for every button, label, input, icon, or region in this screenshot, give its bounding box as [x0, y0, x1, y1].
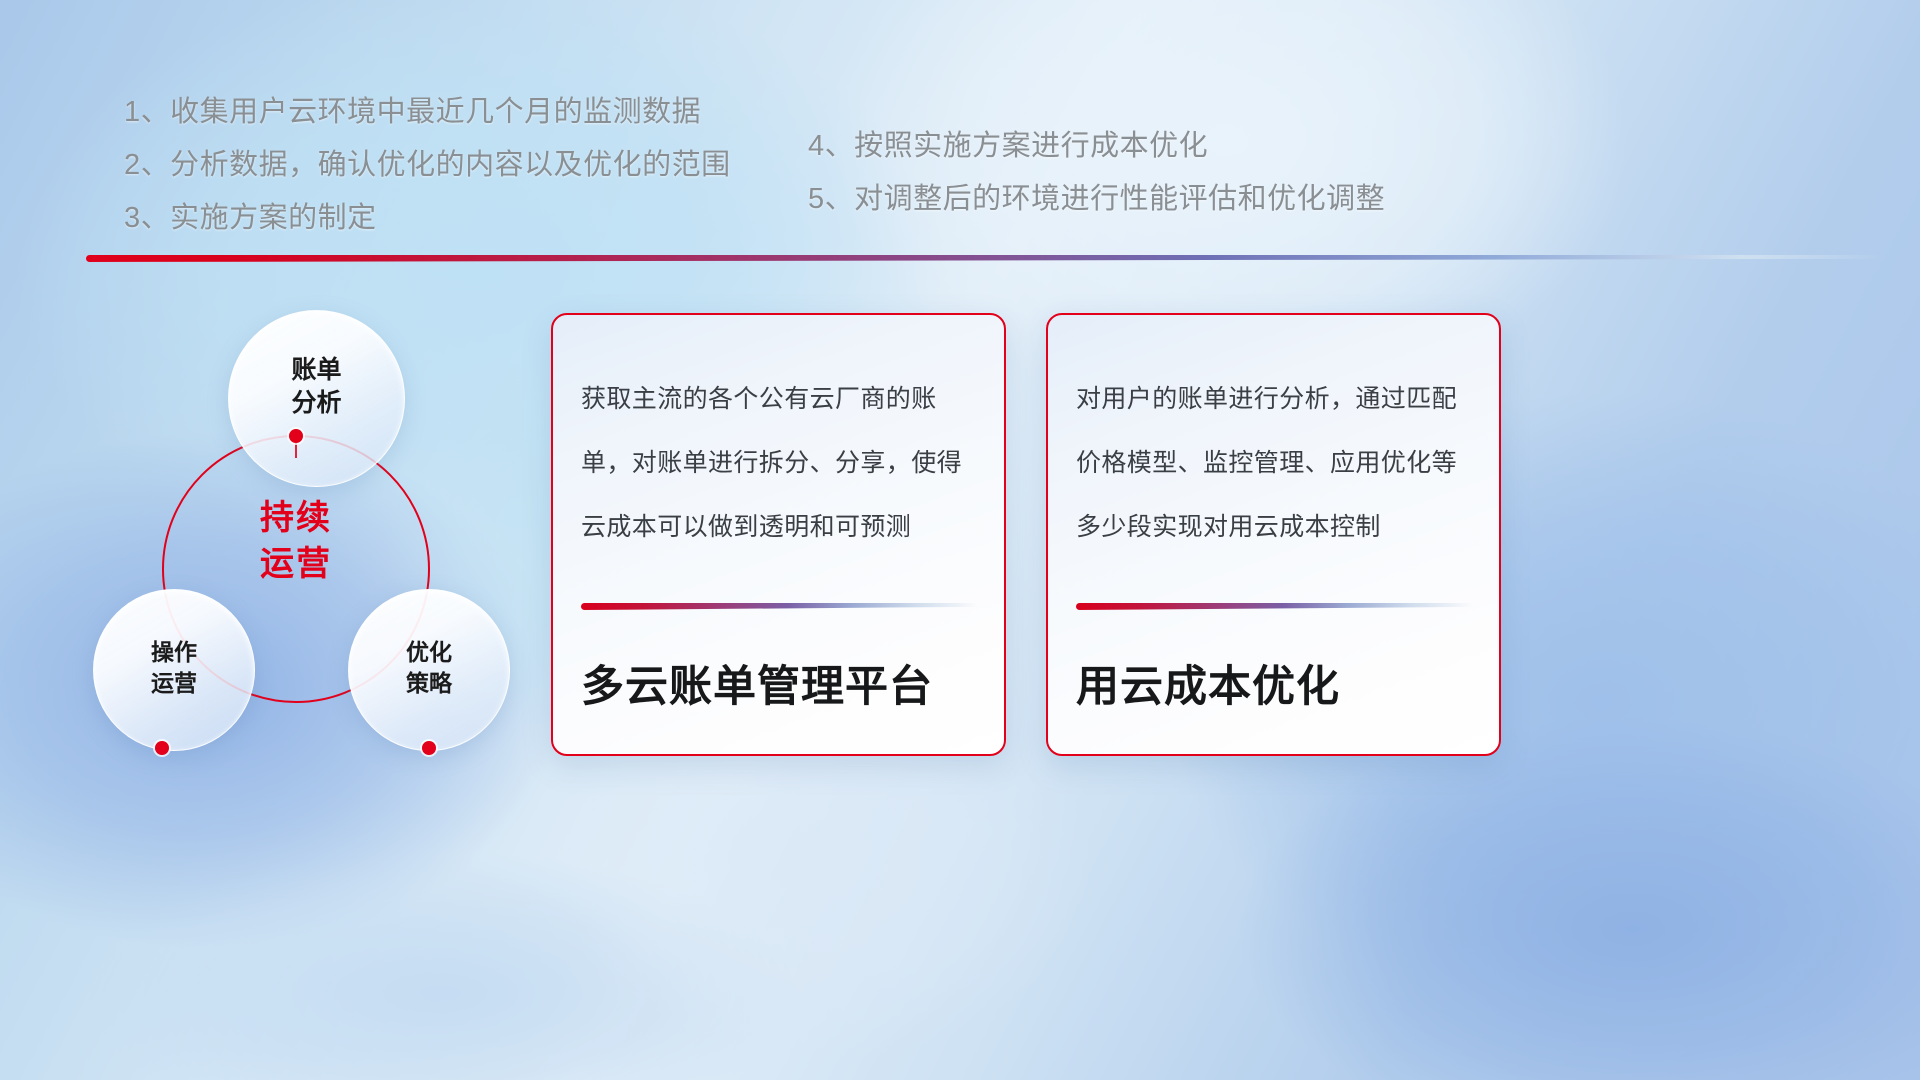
- card-cloud-cost-optimization[interactable]: 对用户的账单进行分析，通过匹配价格模型、监控管理、应用优化等多少段实现对用云成本…: [1046, 313, 1501, 756]
- venn-connector-top: [295, 442, 297, 458]
- venn-label-operation-management: 操作 运营: [94, 637, 254, 699]
- steps-left-column: 1、收集用户云环境中最近几个月的监测数据 2、分析数据，确认优化的内容以及优化的…: [124, 86, 731, 245]
- venn-circle-bill-analysis[interactable]: 账单 分析: [228, 310, 405, 487]
- venn-label-optimization-strategy: 优化 策略: [349, 637, 509, 699]
- card-accent-rule: [1076, 603, 1474, 610]
- venn-label-line2: 运营: [151, 670, 197, 696]
- card-body-text: 获取主流的各个公有云厂商的账单，对账单进行拆分、分享，使得云成本可以做到透明和可…: [581, 367, 982, 559]
- venn-center-line2: 运营: [260, 545, 332, 583]
- card-title: 用云成本优化: [1076, 652, 1477, 714]
- section-divider: [86, 255, 1886, 265]
- card-title: 多云账单管理平台: [581, 652, 982, 714]
- venn-diagram: 账单 分析 操作 运营 优化 策略 持续 运营: [80, 295, 550, 775]
- venn-label-line2: 策略: [406, 670, 452, 696]
- card-multi-cloud-billing-platform[interactable]: 获取主流的各个公有云厂商的账单，对账单进行拆分、分享，使得云成本可以做到透明和可…: [551, 313, 1006, 756]
- venn-node-bottom-left-dot-icon: [155, 741, 169, 755]
- step-item-2: 2、分析数据，确认优化的内容以及优化的范围: [124, 139, 731, 192]
- venn-circle-optimization-strategy[interactable]: 优化 策略: [348, 589, 510, 751]
- venn-label-line2: 分析: [291, 389, 341, 417]
- venn-circle-operation-management[interactable]: 操作 运营: [93, 589, 255, 751]
- venn-center-line1: 持续: [260, 499, 332, 537]
- card-accent-rule: [581, 603, 979, 610]
- step-item-5: 5、对调整后的环境进行性能评估和优化调整: [808, 173, 1385, 226]
- venn-label-line1: 账单: [291, 356, 341, 384]
- step-item-1: 1、收集用户云环境中最近几个月的监测数据: [124, 86, 731, 139]
- venn-node-bottom-right-dot-icon: [422, 741, 436, 755]
- divider-gradient-bar: [86, 255, 1886, 262]
- card-body-text: 对用户的账单进行分析，通过匹配价格模型、监控管理、应用优化等多少段实现对用云成本…: [1076, 367, 1477, 559]
- steps-list: 1、收集用户云环境中最近几个月的监测数据 2、分析数据，确认优化的内容以及优化的…: [0, 86, 1920, 256]
- venn-label-line1: 优化: [406, 639, 452, 665]
- venn-center-label: 持续 运营: [162, 495, 430, 587]
- venn-node-top-dot-icon: [289, 429, 303, 443]
- step-item-4: 4、按照实施方案进行成本优化: [808, 120, 1385, 173]
- venn-label-bill-analysis: 账单 分析: [229, 354, 404, 420]
- step-item-3: 3、实施方案的制定: [124, 192, 731, 245]
- venn-label-line1: 操作: [151, 639, 197, 665]
- steps-right-column: 4、按照实施方案进行成本优化 5、对调整后的环境进行性能评估和优化调整: [808, 120, 1385, 226]
